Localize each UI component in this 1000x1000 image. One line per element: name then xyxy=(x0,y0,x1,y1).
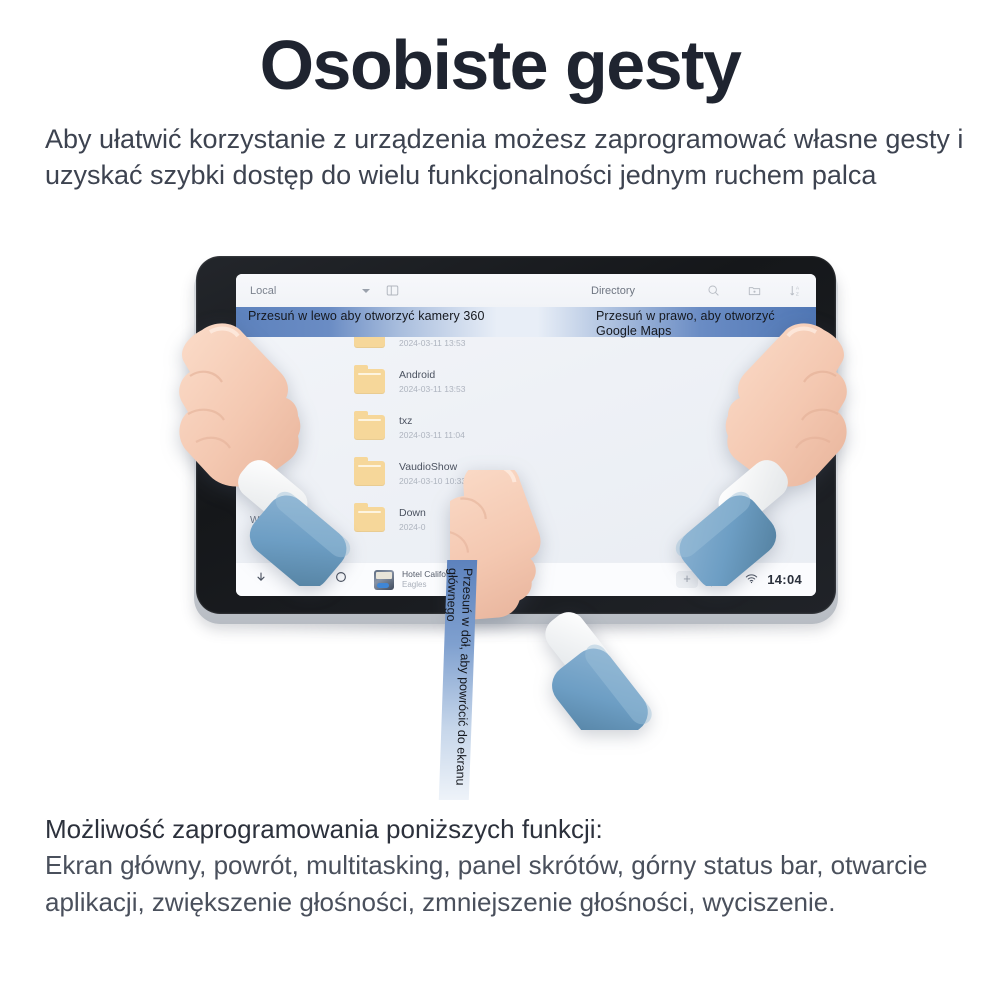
hand-center-pointing xyxy=(450,470,680,730)
gesture-banner-vertical: Przesuń w dół, aby powrócić do ekranu gł… xyxy=(439,560,477,800)
file-date: 2024-03-11 11:04 xyxy=(399,430,465,440)
file-date: 2024-0 xyxy=(399,522,426,532)
list-item[interactable]: txz 2024-03-11 11:04 xyxy=(354,404,654,450)
chevron-down-icon xyxy=(362,289,370,293)
source-dropdown[interactable]: Local xyxy=(250,285,370,297)
page-title: Osobiste gesty xyxy=(0,0,1000,100)
list-item[interactable]: Android 2024-03-11 13:53 xyxy=(354,358,654,404)
file-date: 2024-03-11 13:53 xyxy=(399,338,465,348)
hand-left-pointing xyxy=(176,316,376,586)
page-subtitle: Aby ułatwić korzystanie z urządzenia moż… xyxy=(45,122,975,193)
source-dropdown-label: Local xyxy=(250,285,276,297)
search-icon[interactable] xyxy=(707,284,720,297)
svg-text:A: A xyxy=(796,286,800,292)
footer-heading: Możliwość zaprogramowania poniższych fun… xyxy=(45,812,985,847)
new-folder-icon[interactable] xyxy=(748,284,761,297)
file-date: 2024-03-11 13:53 xyxy=(399,384,465,394)
footer-body: Ekran główny, powrót, multitasking, pane… xyxy=(45,847,985,921)
footer-block: Możliwość zaprogramowania poniższych fun… xyxy=(45,812,985,921)
screen-topbar: Local Directory xyxy=(236,274,816,307)
album-art[interactable] xyxy=(374,570,394,590)
file-name: Down xyxy=(399,506,426,522)
gesture-hint-down: Przesuń w dół, aby powrócić do ekranu gł… xyxy=(439,560,477,800)
file-name: Android xyxy=(399,368,465,384)
sort-icon[interactable]: A Z xyxy=(789,284,802,297)
hand-right-pointing xyxy=(650,316,850,586)
file-name: amapauto9 xyxy=(399,322,465,338)
directory-label: Directory xyxy=(591,285,635,297)
topbar-tools: A Z xyxy=(707,284,802,297)
split-panel-icon[interactable] xyxy=(386,284,399,297)
promo-page: Osobiste gesty Aby ułatwić korzystanie z… xyxy=(0,0,1000,1000)
file-name: txz xyxy=(399,414,465,430)
svg-text:Z: Z xyxy=(796,291,799,297)
list-item[interactable]: amapauto9 2024-03-11 13:53 xyxy=(354,312,654,358)
